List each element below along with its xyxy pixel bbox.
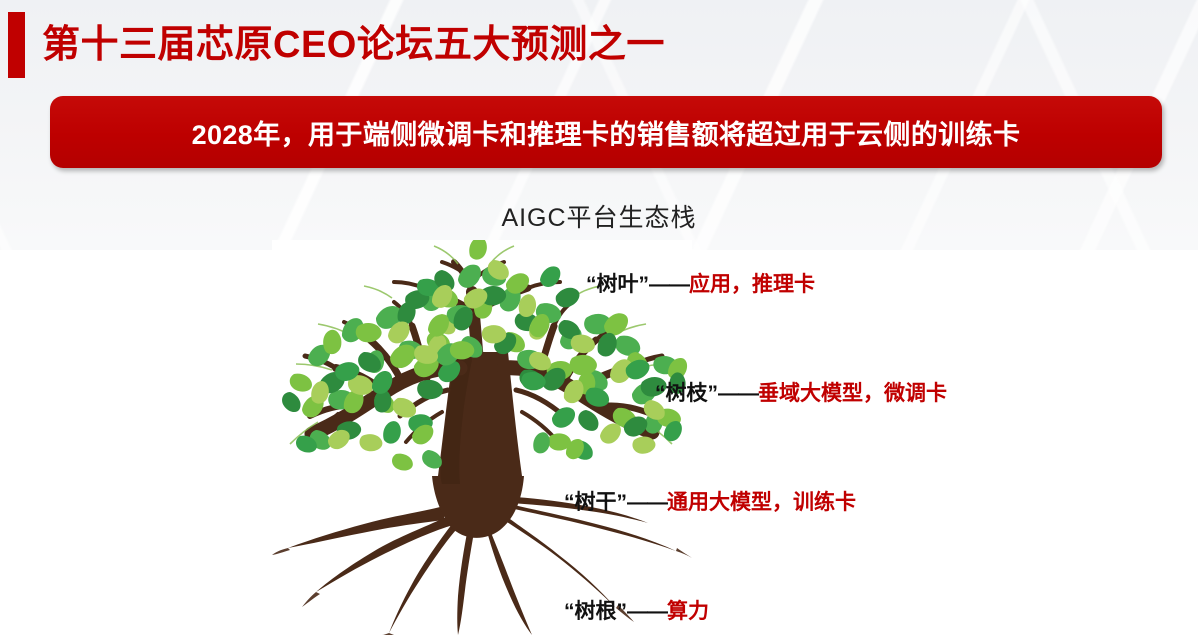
- annotation-root: “树根”——算力: [564, 601, 709, 622]
- annotation-root-desc: 算力: [667, 600, 709, 623]
- annotation-trunk-term: “树干”: [564, 491, 627, 514]
- diagram-subtitle: AIGC平台生态栈: [0, 198, 1198, 234]
- annotation-branch-dash: ——: [718, 382, 758, 405]
- prediction-banner: 2028年，用于端侧微调卡和推理卡的销售额将超过用于云侧的训练卡: [50, 96, 1162, 168]
- annotation-branch-desc: 垂域大模型，微调卡: [758, 382, 947, 405]
- annotation-leaf-desc: 应用，推理卡: [689, 273, 815, 296]
- annotation-branch: “树枝”——垂域大模型，微调卡: [655, 383, 947, 404]
- annotation-leaf-dash: ——: [649, 273, 689, 296]
- annotation-trunk: “树干”——通用大模型，训练卡: [564, 492, 856, 513]
- tree-svg: [272, 240, 692, 635]
- annotation-branch-term: “树枝”: [655, 382, 718, 405]
- title-accent-bar: [8, 12, 25, 78]
- annotation-leaf: “树叶”——应用，推理卡: [586, 274, 815, 295]
- annotation-leaf-term: “树叶”: [586, 273, 649, 296]
- annotation-root-dash: ——: [627, 600, 667, 623]
- annotation-trunk-dash: ——: [627, 491, 667, 514]
- slide-header: 第十三届芯原CEO论坛五大预测之一: [0, 8, 665, 82]
- slide-canvas: 第十三届芯原CEO论坛五大预测之一 2028年，用于端侧微调卡和推理卡的销售额将…: [0, 0, 1198, 635]
- tree-illustration: [272, 240, 692, 635]
- annotation-trunk-desc: 通用大模型，训练卡: [667, 491, 856, 514]
- annotation-root-term: “树根”: [564, 600, 627, 623]
- prediction-banner-text: 2028年，用于端侧微调卡和推理卡的销售额将超过用于云侧的训练卡: [192, 113, 1021, 152]
- page-title: 第十三届芯原CEO论坛五大预测之一: [42, 26, 665, 64]
